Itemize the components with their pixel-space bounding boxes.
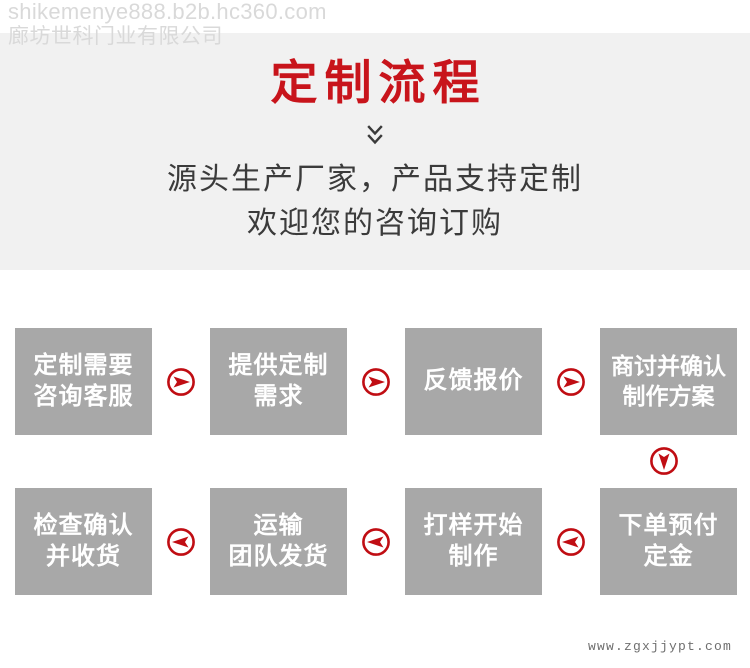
flow-step-4-line-1: 商讨并确认	[611, 353, 726, 379]
circle-arrow-left-icon	[361, 527, 391, 557]
circle-arrow-right-icon	[556, 367, 586, 397]
flow-step-2-text: 提供定制 需求	[229, 351, 329, 412]
flow-step-2-line-2: 需求	[254, 383, 304, 410]
circle-arrow-left-icon	[166, 527, 196, 557]
flow-step-6-line-1: 打样开始	[424, 512, 524, 539]
top-watermark: shikemenye888.b2b.hc360.com 廊坊世科门业有限公司	[8, 0, 327, 48]
circle-arrow-left-icon	[556, 527, 586, 557]
circle-arrow-down-icon	[649, 446, 679, 476]
flow-arrow-7	[152, 527, 210, 557]
flow-step-2-line-1: 提供定制	[229, 352, 329, 379]
flow-step-5-text: 下单预付 定金	[619, 511, 719, 572]
flow-step-8-text: 检查确认 并收货	[34, 511, 134, 572]
flow-step-box-3[interactable]: 反馈报价	[405, 328, 542, 435]
flow-step-6-line-2: 制作	[449, 543, 499, 570]
flow-step-8-line-2: 并收货	[46, 543, 121, 570]
header-banner: 定制流程 源头生产厂家，产品支持定制 欢迎您的咨询订购	[0, 33, 750, 270]
bottom-watermark: www.zgxjjypt.com	[588, 639, 732, 654]
flow-step-box-2[interactable]: 提供定制 需求	[210, 328, 347, 435]
flow-step-5-line-1: 下单预付	[619, 512, 719, 539]
flow-row-top: 定制需要 咨询客服 提供定制 需求 反馈报价 商讨并	[0, 328, 750, 435]
flow-step-8-line-1: 检查确认	[34, 512, 134, 539]
flow-step-4-line-2: 制作方案	[623, 383, 715, 409]
flow-arrow-6	[347, 527, 405, 557]
flow-step-6-text: 打样开始 制作	[424, 511, 524, 572]
flow-step-1-text: 定制需要 咨询客服	[34, 351, 134, 412]
watermark-url: shikemenye888.b2b.hc360.com	[8, 0, 327, 25]
flow-step-4-text: 商讨并确认 制作方案	[611, 352, 726, 411]
flow-step-7-line-1: 运输	[254, 512, 304, 539]
flow-step-5-line-2: 定金	[644, 543, 694, 570]
flow-arrow-2	[347, 367, 405, 397]
banner-subtitle: 源头生产厂家，产品支持定制 欢迎您的咨询订购	[0, 158, 750, 245]
flow-step-7-text: 运输 团队发货	[229, 511, 329, 572]
circle-arrow-right-icon	[166, 367, 196, 397]
flow-row-bottom: 检查确认 并收货 运输 团队发货 打样开始 制作	[0, 488, 750, 595]
watermark-company-name: 廊坊世科门业有限公司	[8, 25, 327, 49]
flow-step-3-text: 反馈报价	[424, 366, 524, 397]
flow-step-box-4[interactable]: 商讨并确认 制作方案	[600, 328, 737, 435]
flow-step-1-line-2: 咨询客服	[34, 383, 134, 410]
flow-step-1-line-1: 定制需要	[34, 352, 134, 379]
flow-arrow-3	[542, 367, 600, 397]
flow-step-box-8[interactable]: 检查确认 并收货	[15, 488, 152, 595]
double-chevron-down-icon	[0, 123, 750, 154]
flow-arrow-1	[152, 367, 210, 397]
flow-arrow-5	[542, 527, 600, 557]
flow-arrow-down	[646, 443, 682, 479]
flow-step-box-7[interactable]: 运输 团队发货	[210, 488, 347, 595]
circle-arrow-right-icon	[361, 367, 391, 397]
subtitle-line-1: 源头生产厂家，产品支持定制	[0, 158, 750, 202]
flow-step-box-6[interactable]: 打样开始 制作	[405, 488, 542, 595]
flow-step-7-line-2: 团队发货	[229, 543, 329, 570]
flow-step-3-line-1: 反馈报价	[424, 367, 524, 394]
subtitle-line-2: 欢迎您的咨询订购	[0, 202, 750, 246]
flow-step-box-1[interactable]: 定制需要 咨询客服	[15, 328, 152, 435]
page-title: 定制流程	[0, 59, 750, 106]
flow-step-box-5[interactable]: 下单预付 定金	[600, 488, 737, 595]
